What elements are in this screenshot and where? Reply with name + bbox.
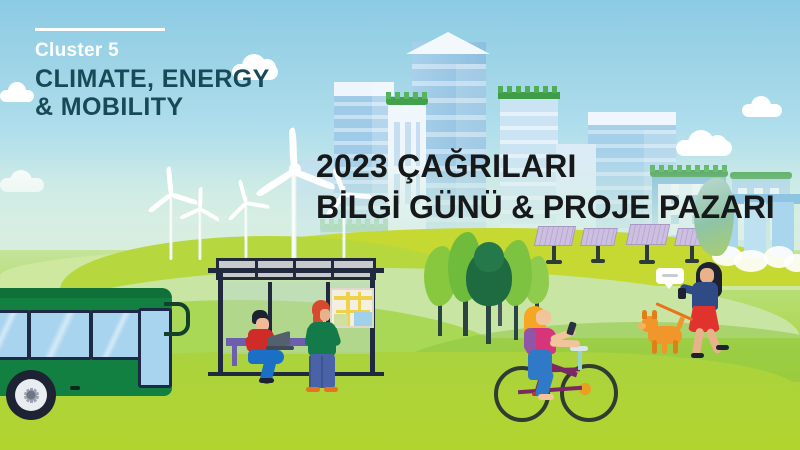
bus-mirror <box>164 302 190 336</box>
cluster-block: Cluster 5 CLIMATE, ENERGY & MOBILITY <box>35 28 270 121</box>
dog-walker <box>650 258 760 368</box>
dog-ear <box>642 310 647 319</box>
phone-icon <box>678 288 686 299</box>
dog-snout <box>638 323 646 329</box>
cluster-title-line2: & MOBILITY <box>35 93 270 121</box>
dog-leash <box>655 302 693 321</box>
banner-image: Cluster 5 CLIMATE, ENERGY & MOBILITY 202… <box>0 0 800 450</box>
cluster-title-line1: CLIMATE, ENERGY <box>35 65 270 93</box>
rooftop-garden <box>498 92 560 99</box>
bus-roof <box>0 288 172 298</box>
dog-leg <box>652 340 657 354</box>
dog-tail <box>676 316 686 331</box>
dog-leg <box>662 340 667 354</box>
bus-window <box>28 310 92 360</box>
rooftop-greenery <box>498 86 560 93</box>
cyclist-arm <box>550 339 580 347</box>
walker-head <box>700 268 714 283</box>
dog-ear <box>652 310 657 319</box>
event-title-line1: 2023 ÇAĞRILARI <box>316 146 774 187</box>
walker-shoe <box>716 345 729 350</box>
bus-window <box>90 310 142 360</box>
walker-shoe <box>691 353 704 358</box>
cyclist <box>494 318 614 428</box>
wind-turbine-icon <box>180 202 220 260</box>
bike-handlebar <box>578 348 582 370</box>
standing-commuter <box>298 300 344 396</box>
electric-bus <box>0 288 186 428</box>
event-title: 2023 ÇAĞRILARI BİLGİ GÜNÜ & PROJE PAZARI <box>316 146 774 228</box>
cyclist-foot <box>538 394 554 400</box>
cluster-kicker: Cluster 5 <box>35 40 270 62</box>
building-roof <box>406 32 490 54</box>
shelter-roof-bar <box>208 268 384 273</box>
dog-leg <box>673 340 678 354</box>
solar-panel-icon <box>582 228 616 264</box>
event-title-line2: BİLGİ GÜNÜ & PROJE PAZARI <box>316 187 774 228</box>
message-bubble <box>656 268 684 284</box>
cyclist-head <box>536 310 551 325</box>
seated-commuter <box>238 310 298 382</box>
bus-wheel <box>6 370 56 420</box>
bus-window <box>0 310 30 360</box>
walker-leg <box>705 327 722 354</box>
cluster-divider <box>35 28 165 31</box>
